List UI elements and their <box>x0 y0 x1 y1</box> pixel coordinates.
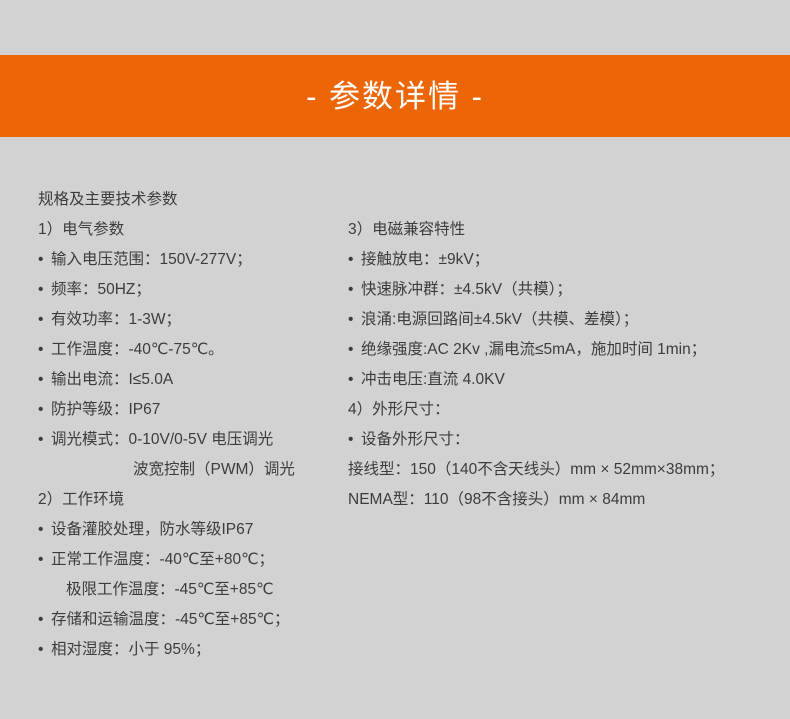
dimension-line-wired: 接线型：150（140不含天线头）mm × 52mm×38mm； <box>348 455 778 485</box>
section-title-dimensions: 4）外形尺寸： <box>348 395 778 425</box>
section-title-electrical: 1）电气参数 <box>38 215 348 245</box>
page-root: { "theme": { "background": "#d2d2d2", "b… <box>0 0 790 719</box>
right-column-lines: 3）电磁兼容特性 接触放电：±9kV； 快速脉冲群：±4.5kV（共模）； 浪涌… <box>348 137 778 515</box>
spec-heading: 规格及主要技术参数 <box>38 185 348 215</box>
spec-column-left: 规格及主要技术参数 1）电气参数 输入电压范围：150V-277V； 频率：50… <box>38 137 348 665</box>
list-item: 存储和运输温度：-45℃至+85℃； <box>38 605 348 635</box>
list-item: 绝缘强度:AC 2Kv ,漏电流≤5mA，施加时间 1min； <box>348 335 778 365</box>
spec-content: 规格及主要技术参数 1）电气参数 输入电压范围：150V-277V； 频率：50… <box>0 137 790 719</box>
left-column-lines: 规格及主要技术参数 1）电气参数 输入电压范围：150V-277V； 频率：50… <box>38 137 348 665</box>
list-item: 工作温度：-40℃-75℃。 <box>38 335 348 365</box>
dimension-line-nema: NEMA型：110（98不含接头）mm × 84mm <box>348 485 778 515</box>
list-item: 快速脉冲群：±4.5kV（共模）； <box>348 275 778 305</box>
list-item: 输出电流：I≤5.0A <box>38 365 348 395</box>
list-item: 设备外形尺寸： <box>348 425 778 455</box>
list-item: 有效功率：1-3W； <box>38 305 348 335</box>
list-item: 输入电压范围：150V-277V； <box>38 245 348 275</box>
list-item-continuation: 极限工作温度：-45℃至+85℃ <box>38 575 348 605</box>
list-item: 浪涌:电源回路间±4.5kV（共模、差模）； <box>348 305 778 335</box>
spec-column-right: 3）电磁兼容特性 接触放电：±9kV； 快速脉冲群：±4.5kV（共模）； 浪涌… <box>348 137 778 515</box>
list-item: 防护等级：IP67 <box>38 395 348 425</box>
list-item: 调光模式：0-10V/0-5V 电压调光 <box>38 425 348 455</box>
list-item: 频率：50HZ； <box>38 275 348 305</box>
list-item-continuation: 波宽控制（PWM）调光 <box>38 455 348 485</box>
list-item: 设备灌胶处理，防水等级IP67 <box>38 515 348 545</box>
section-title-emc: 3）电磁兼容特性 <box>348 215 778 245</box>
list-item: 相对湿度：小于 95%； <box>38 635 348 665</box>
list-item: 冲击电压:直流 4.0KV <box>348 365 778 395</box>
section-title-environment: 2）工作环境 <box>38 485 348 515</box>
page-title: - 参数详情 - <box>306 81 484 112</box>
list-item: 接触放电：±9kV； <box>348 245 778 275</box>
section-banner: - 参数详情 - <box>0 55 790 137</box>
list-item: 正常工作温度：-40℃至+80℃； <box>38 545 348 575</box>
